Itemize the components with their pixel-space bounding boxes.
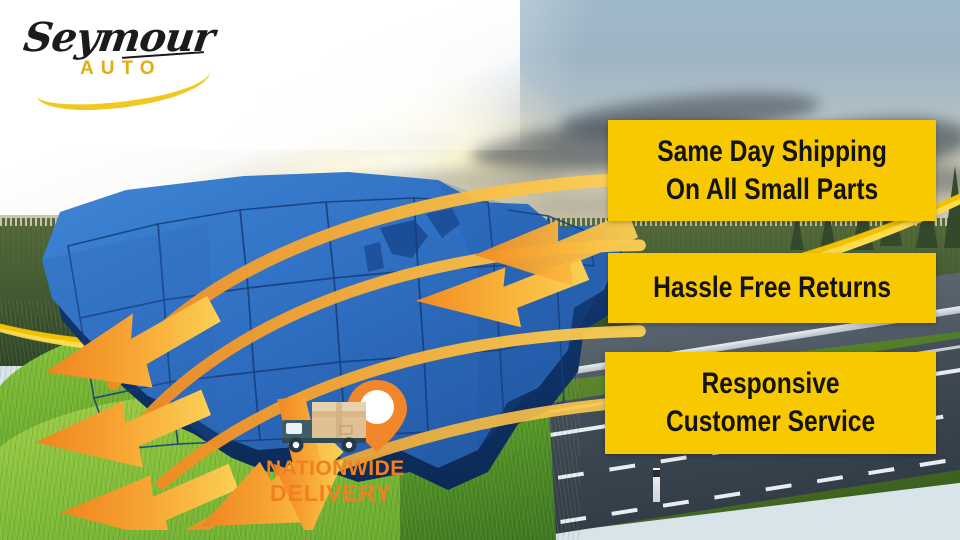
roadside-marker-post bbox=[653, 468, 660, 502]
callout-responsive-customer-service[interactable]: Responsive Customer Service bbox=[605, 352, 936, 454]
callout-same-day-shipping[interactable]: Same Day Shipping On All Small Parts bbox=[608, 120, 936, 221]
promo-banner: Seymour AUTO bbox=[0, 0, 960, 540]
nationwide-line1: NATIONWIDE bbox=[266, 456, 396, 481]
usa-map-graphic: NATIONWIDE DELIVERY bbox=[8, 150, 628, 530]
nationwide-line2: DELIVERY bbox=[266, 481, 396, 506]
callout-2-line-1: Hassle Free Returns bbox=[653, 271, 891, 305]
delivery-truck-icon bbox=[280, 398, 374, 454]
callout-hassle-free-returns[interactable]: Hassle Free Returns bbox=[608, 253, 936, 323]
brand-logo[interactable]: Seymour AUTO bbox=[18, 10, 208, 96]
nationwide-delivery-label: NATIONWIDE DELIVERY bbox=[266, 456, 396, 506]
callout-1-line-2: On All Small Parts bbox=[657, 171, 887, 209]
callout-3-line-1: Responsive bbox=[666, 365, 875, 403]
brand-subtitle: AUTO bbox=[80, 58, 161, 80]
callout-3-line-2: Customer Service bbox=[666, 403, 875, 441]
callout-1-line-1: Same Day Shipping bbox=[657, 133, 887, 171]
